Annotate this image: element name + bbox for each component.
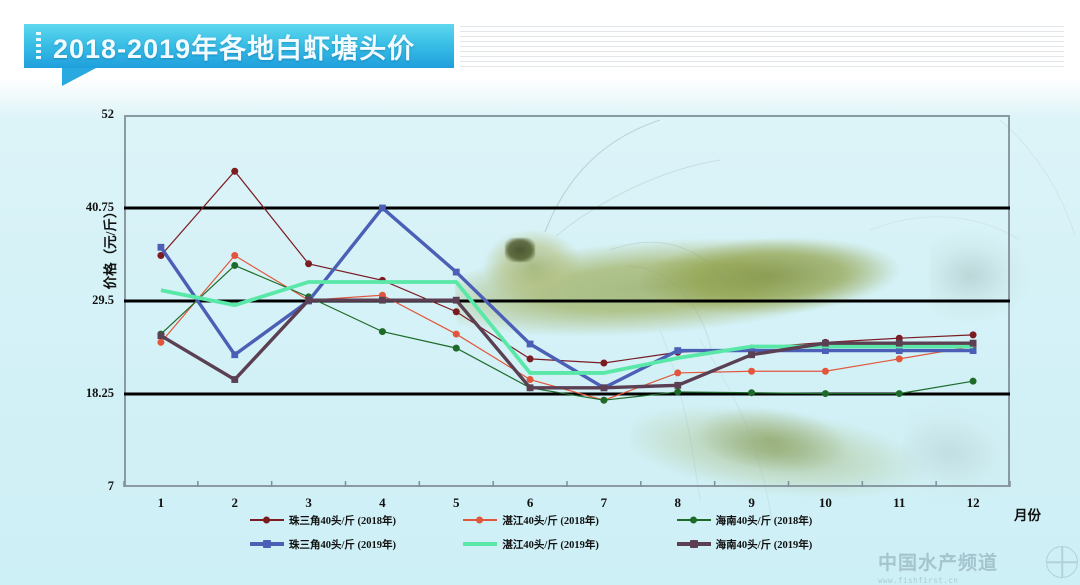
data-point xyxy=(822,340,829,347)
series-3 xyxy=(158,205,977,392)
legend-label: 珠三角40头/斤 (2019年) xyxy=(289,537,396,552)
legend-item[interactable]: 湛江40头/斤 (2019年) xyxy=(463,537,676,552)
data-point xyxy=(379,297,386,304)
watermark: 中国水产频道 www.fishfirst.cn xyxy=(878,548,1074,582)
legend-item[interactable]: 珠三角40头/斤 (2018年) xyxy=(250,513,463,528)
data-point xyxy=(600,397,607,404)
data-point xyxy=(527,341,534,348)
legend-marker-icon xyxy=(263,540,271,548)
legend-marker-icon xyxy=(263,517,270,524)
legend-label: 海南40头/斤 (2018年) xyxy=(716,513,813,528)
x-axis-tick-label: 1 xyxy=(141,495,181,511)
legend-item[interactable]: 海南40头/斤 (2018年) xyxy=(677,513,890,528)
series-0 xyxy=(157,168,976,367)
data-point xyxy=(822,390,829,397)
data-point xyxy=(748,351,755,358)
data-point xyxy=(158,332,165,339)
data-point xyxy=(970,340,977,347)
data-point xyxy=(231,376,238,383)
legend-swatch-icon xyxy=(677,519,711,521)
data-point xyxy=(379,205,386,212)
data-point xyxy=(970,378,977,385)
legend-label: 湛江40头/斤 (2019年) xyxy=(502,537,599,552)
data-point xyxy=(970,331,977,338)
data-point xyxy=(896,340,903,347)
data-point xyxy=(231,351,238,358)
data-point xyxy=(453,345,460,352)
y-axis-tick-label: 18.25 xyxy=(44,386,114,401)
x-axis-title: 月份 xyxy=(1014,504,1041,524)
legend-swatch-icon xyxy=(250,519,284,521)
legend-swatch-icon xyxy=(463,542,497,546)
legend-swatch-icon xyxy=(463,519,497,521)
data-point xyxy=(527,376,534,383)
data-point xyxy=(527,355,534,362)
series-line xyxy=(161,171,973,363)
data-point xyxy=(601,384,608,391)
legend-item[interactable]: 珠三角40头/斤 (2019年) xyxy=(250,537,463,552)
legend-swatch-icon xyxy=(677,542,711,546)
data-point xyxy=(896,355,903,362)
globe-icon xyxy=(1046,546,1078,578)
data-point xyxy=(379,328,386,335)
series-line xyxy=(161,265,973,400)
data-point xyxy=(157,339,164,346)
data-point xyxy=(674,369,681,376)
data-point xyxy=(305,297,312,304)
series-1 xyxy=(157,252,976,404)
data-point xyxy=(674,347,681,354)
data-point xyxy=(527,384,534,391)
data-point xyxy=(748,389,755,396)
data-point xyxy=(674,388,681,395)
y-axis-tick-label: 7 xyxy=(44,479,114,494)
legend-label: 湛江40头/斤 (2018年) xyxy=(502,513,599,528)
series-5 xyxy=(158,297,977,391)
data-point xyxy=(158,244,165,251)
y-axis-tick-label: 52 xyxy=(44,107,114,122)
data-point xyxy=(896,390,903,397)
legend-item[interactable]: 湛江40头/斤 (2018年) xyxy=(463,513,676,528)
legend-marker-icon xyxy=(690,540,698,548)
x-axis-tick-label: 2 xyxy=(215,495,255,511)
data-point xyxy=(231,252,238,259)
data-point xyxy=(600,360,607,367)
legend-label: 珠三角40头/斤 (2018年) xyxy=(289,513,396,528)
watermark-text: 中国水产频道 xyxy=(878,548,1074,575)
legend-marker-icon xyxy=(690,517,697,524)
legend-marker-icon xyxy=(476,517,483,524)
data-point xyxy=(453,331,460,338)
watermark-url: www.fishfirst.cn xyxy=(878,576,1074,585)
y-axis-title: 价格（元/斤） xyxy=(99,182,119,312)
legend-label: 海南40头/斤 (2019年) xyxy=(716,537,813,552)
legend-item[interactable]: 海南40头/斤 (2019年) xyxy=(677,537,890,552)
data-point xyxy=(231,262,238,269)
data-point xyxy=(822,368,829,375)
data-point xyxy=(453,269,460,276)
data-point xyxy=(674,382,681,389)
data-point xyxy=(748,368,755,375)
chart-legend: 珠三角40头/斤 (2018年)湛江40头/斤 (2018年)海南40头/斤 (… xyxy=(250,508,890,556)
legend-swatch-icon xyxy=(250,542,284,546)
x-axis-tick-label: 12 xyxy=(953,495,993,511)
data-point xyxy=(453,308,460,315)
data-point xyxy=(453,297,460,304)
data-point xyxy=(231,168,238,175)
data-point xyxy=(305,260,312,267)
